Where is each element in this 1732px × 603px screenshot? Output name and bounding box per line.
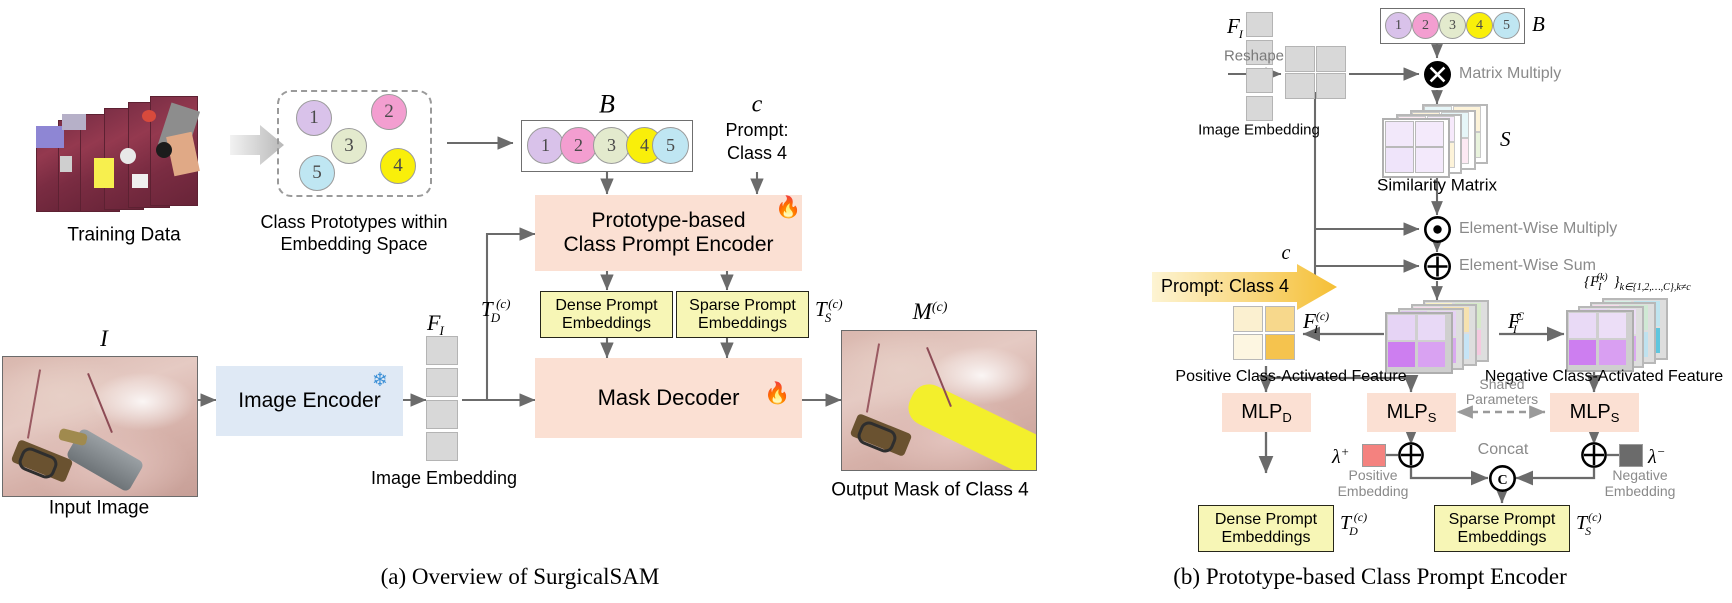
mlp-sparse-negative-box[interactable]: MLPS (1550, 393, 1639, 432)
input-image-symbol: I (100, 326, 108, 352)
negative-embedding-line1: Negative (1612, 468, 1667, 484)
dense-prompt-symbol-b: TD(c) (1340, 512, 1373, 534)
prototype-label: 5 (312, 162, 322, 184)
t-subscript: D (1349, 524, 1358, 538)
mlp-dense-subscript: D (1282, 410, 1291, 425)
positive-feature-label: Positive Class-Activated Feature (1175, 368, 1406, 386)
svg-text:C: C (1497, 473, 1507, 488)
matrix-multiply-operator (1424, 61, 1451, 88)
lambda-superscript: − (1657, 444, 1666, 459)
t-superscript: (c) (1588, 510, 1601, 524)
bank-prototype-2-b: 2 (1412, 12, 1439, 39)
sparse-prompt-line2-b: Embeddings (1458, 529, 1547, 547)
prototype-label: 3 (344, 135, 354, 157)
grid-cell (1316, 46, 1346, 72)
f-subscript: I (1314, 322, 1318, 336)
t-superscript: (c) (828, 296, 842, 311)
m-symbol: M (913, 299, 932, 324)
element-wise-sum-operator (1424, 253, 1451, 280)
element-wise-sum-label: Element-Wise Sum (1459, 257, 1596, 275)
t-superscript: (c) (1354, 510, 1367, 524)
negative-sum-operator (1581, 442, 1607, 468)
fire-icon: 🔥 (775, 196, 801, 220)
image-embedding-label-b: Image Embedding (1198, 123, 1320, 140)
prototype-bank-symbol: B (599, 89, 615, 118)
prompt-symbol-b: c (1282, 242, 1291, 264)
set-index-subscript: k∈{1,2,…,C},k≠c (1620, 282, 1691, 293)
mask-decoder-label: Mask Decoder (598, 385, 740, 411)
positive-embedding-swatch (1362, 444, 1386, 467)
lambda-positive-symbol: λ+ (1332, 446, 1349, 468)
embedding-cell (1246, 96, 1273, 121)
image-embedding-cells-b (1246, 12, 1276, 132)
f-subscript: I (1513, 322, 1517, 336)
positive-sum-operator (1398, 442, 1424, 468)
snowflake-icon: ❄ (372, 370, 388, 391)
class-feature-symbol: FIC (1508, 310, 1533, 334)
similarity-matrix-stack (1382, 104, 1494, 172)
lambda-negative-symbol: λ− (1648, 446, 1665, 468)
prototype-circle-1: 1 (296, 100, 332, 136)
prompt-symbol-a: c (752, 92, 763, 119)
image-feature-symbol-b: FI (1227, 15, 1244, 39)
class-prompt-encoder-box[interactable]: Prototype-based Class Prompt Encoder (535, 195, 802, 271)
similarity-matrix-label: Similarity Matrix (1377, 175, 1497, 194)
bank-prototype-label: 5 (666, 135, 675, 156)
grid-cell (1285, 46, 1315, 72)
bank-prototype-4-b: 4 (1466, 12, 1493, 39)
mlp-sparse-subscript: S (1428, 410, 1437, 425)
mlp-dense-label: MLP (1241, 401, 1282, 424)
class-prototypes-label-line2: Embedding Space (280, 234, 427, 254)
grid-cell (1316, 73, 1346, 99)
dense-prompt-embeddings-box[interactable]: Dense Prompt Embeddings (540, 291, 673, 338)
prompt-label-line2-a: Class 4 (727, 143, 787, 163)
panel-b-caption: (b) Prototype-based Class Prompt Encoder (1173, 564, 1566, 590)
dense-prompt-symbol: TD(c) (481, 298, 517, 322)
mlp-sparse-positive-box[interactable]: MLPS (1367, 393, 1456, 432)
bank-prototype-label: 5 (1503, 18, 1510, 34)
sparse-prompt-embeddings-box[interactable]: Sparse Prompt Embeddings (676, 291, 809, 338)
mlp-sparse-subscript: S (1611, 410, 1620, 425)
grid-cell (1285, 73, 1315, 99)
dense-prompt-line1: Dense Prompt (555, 297, 657, 315)
class-prototypes-label-line1: Class Prototypes within (260, 212, 447, 232)
figure-root: Training Data 1 2 3 4 5 Class Prototypes… (0, 0, 1732, 603)
prototype-label: 2 (384, 101, 394, 123)
embedding-cell (426, 368, 458, 397)
sparse-prompt-symbol-b: TS(c) (1576, 512, 1606, 534)
prototype-circle-4: 4 (380, 148, 416, 184)
image-embedding-label-a: Image Embedding (371, 468, 517, 488)
prompt-label-b: Prompt: Class 4 (1161, 276, 1289, 296)
matrix-multiply-label: Matrix Multiply (1459, 65, 1561, 83)
sparse-prompt-line2: Embeddings (698, 315, 787, 333)
embedding-cell (426, 336, 458, 365)
t-superscript: (c) (496, 296, 510, 311)
bank-prototype-label: 4 (1476, 18, 1483, 34)
positive-feature-symbol: FI(c) (1303, 310, 1333, 334)
fire-icon: 🔥 (764, 382, 790, 406)
t-subscript: D (491, 310, 500, 325)
bank-prototype-label: 3 (1449, 18, 1456, 34)
prototype-bank-symbol-b: B (1532, 13, 1545, 37)
f-subscript: I (1239, 27, 1243, 41)
embedding-cell (1246, 12, 1273, 37)
training-data-label: Training Data (67, 224, 180, 245)
output-mask-label: Output Mask of Class 4 (831, 479, 1028, 500)
similarity-matrix-symbol: S (1500, 128, 1511, 152)
bank-prototype-label: 1 (541, 135, 550, 156)
reshape-label: Reshape (1224, 49, 1284, 66)
bank-prototype-label: 2 (574, 135, 583, 156)
mlp-sparse-label: MLP (1570, 401, 1611, 424)
dense-prompt-line2: Embeddings (562, 315, 651, 333)
prompt-label-line1-a: Prompt: (725, 120, 788, 140)
prototype-circle-5: 5 (299, 155, 335, 191)
shared-parameters-line2: Parameters (1466, 392, 1538, 408)
mlp-dense-box[interactable]: MLPD (1222, 393, 1311, 432)
element-wise-multiply-label: Element-Wise Multiply (1459, 220, 1617, 238)
positive-embedding-line2: Embedding (1338, 484, 1409, 500)
lambda-glyph: λ (1332, 446, 1341, 468)
prototype-label: 1 (309, 107, 319, 129)
class-prompt-encoder-line2: Class Prompt Encoder (563, 233, 773, 257)
negative-embedding-line2: Embedding (1605, 484, 1676, 500)
bank-prototype-3: 3 (593, 127, 630, 164)
output-mask-symbol: M(c) (913, 299, 948, 325)
concat-operator: C (1489, 465, 1516, 492)
dense-prompt-line1-b: Dense Prompt (1215, 511, 1317, 529)
bank-prototype-label: 1 (1395, 18, 1402, 34)
negative-set-notation: {FI(k)}k∈{1,2,…,C},k≠c (1584, 274, 1691, 291)
bank-prototype-1-b: 1 (1385, 12, 1412, 39)
positive-embedding-line1: Positive (1348, 468, 1397, 484)
embedding-cell (426, 400, 458, 429)
flow-arrow-training-to-prototypes (230, 125, 284, 165)
input-image-label: Input Image (49, 497, 149, 518)
set-close: } (1614, 274, 1620, 290)
m-superscript: (c) (932, 300, 948, 315)
input-image (2, 356, 198, 497)
bank-prototype-label: 4 (640, 135, 649, 156)
prototype-circle-3: 3 (331, 128, 367, 164)
image-embedding-cells-a (426, 336, 462, 464)
negative-embedding-swatch (1619, 444, 1643, 467)
t-subscript: S (1585, 524, 1591, 538)
prototype-circle-2: 2 (371, 94, 407, 130)
lambda-superscript: + (1341, 444, 1350, 459)
lambda-glyph: λ (1648, 446, 1657, 468)
bank-prototype-2: 2 (560, 127, 597, 164)
prototype-label: 4 (393, 155, 403, 177)
sparse-prompt-line1: Sparse Prompt (689, 297, 796, 315)
image-encoder-label: Image Encoder (238, 389, 380, 413)
sparse-prompt-line1-b: Sparse Prompt (1449, 511, 1556, 529)
reshaped-feature-grid (1285, 46, 1349, 102)
sparse-prompt-embeddings-box-b[interactable]: Sparse Prompt Embeddings (1434, 505, 1570, 552)
panel-a-caption: (a) Overview of SurgicalSAM (381, 564, 660, 590)
training-data-stack (36, 90, 216, 225)
set-subscript: I (1598, 282, 1601, 293)
image-feature-symbol-a: FI (427, 311, 445, 336)
bank-prototype-5-b: 5 (1493, 12, 1520, 39)
output-mask-image (841, 330, 1037, 471)
t-subscript: S (825, 310, 832, 325)
f-superscript: C (1516, 309, 1524, 323)
sparse-prompt-symbol: TS(c) (815, 298, 848, 322)
bank-prototype-label: 2 (1422, 18, 1429, 34)
dense-prompt-embeddings-box-b[interactable]: Dense Prompt Embeddings (1198, 505, 1334, 552)
set-superscript: (k) (1597, 272, 1608, 283)
f-symbol: F (1227, 14, 1240, 38)
concat-label: Concat (1478, 441, 1529, 459)
negative-class-activated-feature (1566, 298, 1678, 368)
class-prompt-encoder-line1: Prototype-based (591, 209, 745, 233)
dense-prompt-line2-b: Embeddings (1222, 529, 1311, 547)
bank-prototype-label: 3 (607, 135, 616, 156)
element-wise-multiply-operator (1424, 216, 1451, 243)
class-activated-feature-stack (1385, 300, 1503, 370)
embedding-cell (1246, 68, 1273, 93)
mlp-sparse-label: MLP (1387, 401, 1428, 424)
positive-class-activated-feature (1233, 306, 1297, 364)
embedding-cell (426, 432, 458, 461)
bank-prototype-1: 1 (527, 127, 564, 164)
bank-prototype-5: 5 (652, 127, 689, 164)
bank-prototype-3-b: 3 (1439, 12, 1466, 39)
f-superscript: (c) (1316, 309, 1329, 323)
mask-decoder-box[interactable]: Mask Decoder (535, 358, 802, 438)
